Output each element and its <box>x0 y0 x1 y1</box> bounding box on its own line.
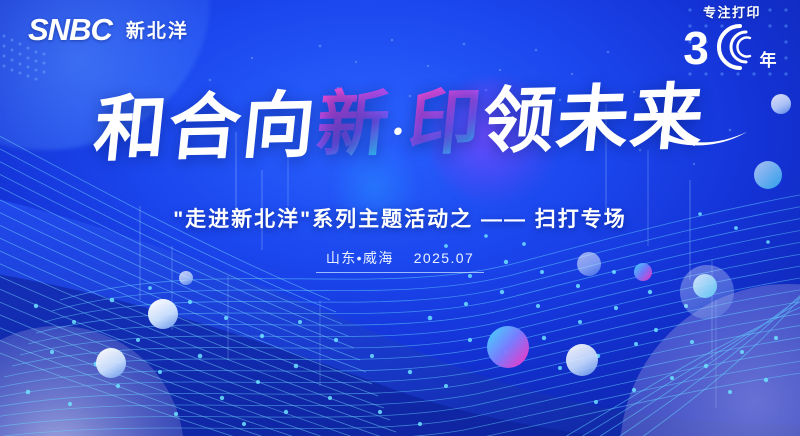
corner-circle-left <box>0 326 184 436</box>
sphere-gradient-magenta <box>487 326 529 368</box>
sphere-white-1 <box>148 299 178 329</box>
title-segment-gradient-xin: 新 <box>313 84 395 166</box>
event-location: 山东•威海 <box>326 250 394 266</box>
sphere-cyan-top-right <box>754 161 782 189</box>
sphere-soft-large <box>680 265 734 319</box>
anniversary-number-graphic: 3 年 <box>680 20 784 72</box>
anniversary-30-icon: 3 年 <box>680 20 784 72</box>
title-segment-2: 领未来 <box>479 78 710 163</box>
event-date: 2025.07 <box>414 250 474 266</box>
sphere-white-3 <box>566 344 598 376</box>
title-segment-gradient-yin: 印 <box>405 82 487 164</box>
anniversary-badge: 专注打印 3 年 <box>680 6 784 84</box>
date-location-inner: 山东•威海2025.07 <box>316 248 484 273</box>
anniversary-digit-3: 3 <box>683 22 709 72</box>
snbc-logo[interactable]: SNBC 新北洋 <box>28 14 189 45</box>
title-block: 和合向新·印领未来 <box>0 88 800 160</box>
sphere-small-white <box>179 271 193 285</box>
corner-circle-right <box>620 284 800 436</box>
date-location-bar: 山东•威海2025.07 <box>0 248 800 273</box>
sphere-white-2 <box>96 348 126 378</box>
sphere-cyan-1 <box>693 274 717 298</box>
event-banner: SNBC 新北洋 专注打印 3 年 和合向新·印领未来 "走进新北 <box>0 0 800 436</box>
particle-dots <box>26 212 778 426</box>
title-brush-sweep-icon <box>660 125 748 149</box>
logo-chinese-name: 新北洋 <box>126 16 189 43</box>
page-title: 和合向新·印领未来 <box>91 82 709 167</box>
logo-wordmark: SNBC <box>28 14 112 45</box>
anniversary-tagline: 专注打印 <box>680 6 784 19</box>
subtitle: "走进新北洋"系列主题活动之 —— 扫打专场 <box>0 203 800 233</box>
title-segment-1: 和合向 <box>91 86 322 171</box>
anniversary-zero-swoosh <box>719 26 750 68</box>
anniversary-unit: 年 <box>760 50 777 70</box>
wave-mass-deep <box>0 268 800 436</box>
